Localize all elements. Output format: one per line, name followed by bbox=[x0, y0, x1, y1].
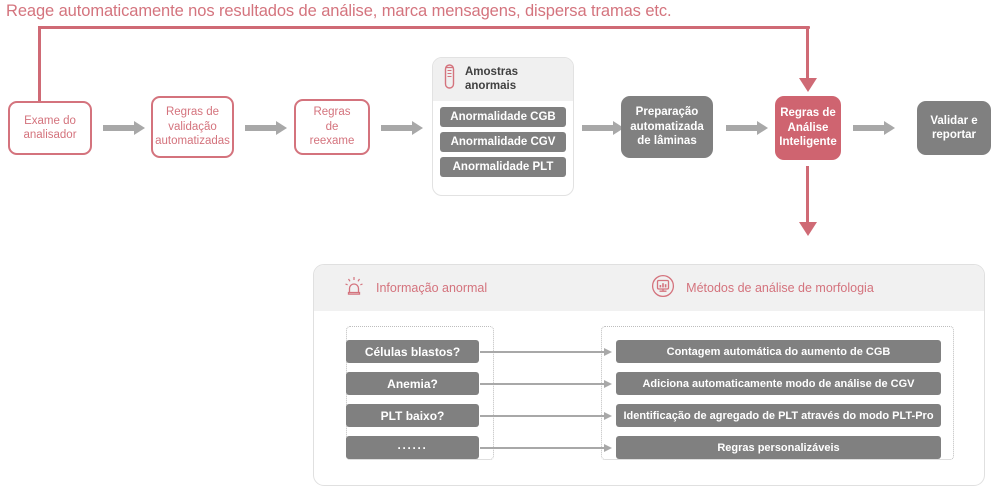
node-line-2: reportar bbox=[925, 128, 982, 143]
node-line-3: Inteligente bbox=[774, 135, 842, 150]
morphology-methods-header: Métodos de análise de morfologia bbox=[651, 274, 874, 303]
connector-arrow-6 bbox=[853, 125, 885, 131]
connector-arrow-1 bbox=[103, 125, 135, 131]
method-box-rbc-mode[interactable]: Adiciona automaticamente modo de análise… bbox=[616, 372, 941, 395]
node-line-3: de lâminas bbox=[625, 134, 709, 149]
sample-chip-plt[interactable]: Anormalidade PLT bbox=[440, 157, 566, 177]
page-title: Reage automaticamente nos resultados de … bbox=[6, 1, 672, 21]
flow-node-intelligent-analysis-rules[interactable]: Regras de Análise Inteligente bbox=[775, 96, 841, 160]
method-box-custom-rules[interactable]: Regras personalizáveis bbox=[616, 436, 941, 459]
drilldown-line bbox=[806, 166, 809, 224]
node-line-2: analisador bbox=[18, 128, 81, 143]
question-box-anemia[interactable]: Anemia? bbox=[346, 372, 479, 395]
method-box-wbc-count[interactable]: Contagem automática do aumento de CGB bbox=[616, 340, 941, 363]
connector-arrow-2 bbox=[245, 125, 277, 131]
method-box-plt-pro[interactable]: Identificação de agregado de PLT através… bbox=[616, 404, 941, 427]
flow-node-auto-validation-rules[interactable]: Regras de validação automatizadas bbox=[151, 96, 234, 158]
mapping-arrow-2 bbox=[480, 383, 604, 385]
abnormal-info-label: Informação anormal bbox=[376, 281, 487, 295]
connector-arrow-5 bbox=[726, 125, 758, 131]
node-line-1: Validar e bbox=[925, 114, 982, 129]
node-line-2: Análise bbox=[774, 121, 842, 136]
abnormal-samples-list: Anormalidade CGB Anormalidade CGV Anorma… bbox=[433, 101, 573, 184]
alarm-siren-icon bbox=[343, 275, 365, 302]
question-box-low-plt[interactable]: PLT baixo? bbox=[346, 404, 479, 427]
node-line-1: Regras de bbox=[150, 105, 235, 120]
connector-arrow-3 bbox=[381, 125, 413, 131]
diagram-canvas: Reage automaticamente nos resultados de … bbox=[0, 0, 996, 495]
mapping-arrow-1 bbox=[480, 351, 604, 353]
detail-panel-header: Informação anormal Métodos de análise de… bbox=[314, 265, 984, 311]
mapping-arrow-4 bbox=[480, 447, 604, 449]
drilldown-arrowhead bbox=[799, 222, 817, 236]
sample-chip-rbc[interactable]: Anormalidade CGV bbox=[440, 132, 566, 152]
morphology-detail-panel: Informação anormal Métodos de análise de… bbox=[313, 264, 985, 486]
feedback-line-horizontal bbox=[38, 26, 810, 29]
node-line-2: validação bbox=[150, 120, 235, 135]
feedback-line-right-drop bbox=[806, 26, 809, 80]
node-line-1: Regras de bbox=[774, 106, 842, 121]
feedback-arrowhead-down bbox=[799, 78, 817, 92]
feedback-line-left-drop bbox=[38, 26, 41, 104]
abnormal-info-header: Informação anormal bbox=[343, 275, 487, 302]
node-line-1: Preparação bbox=[625, 105, 709, 120]
flow-node-analyzer-exam[interactable]: Exame do analisador bbox=[8, 101, 92, 155]
node-line-3: automatizadas bbox=[150, 134, 235, 149]
node-line-2: automatizada bbox=[625, 120, 709, 135]
detail-panel-body: Células blastos? Anemia? PLT baixo? ····… bbox=[314, 311, 984, 486]
node-line-1: Exame do bbox=[18, 114, 81, 129]
flow-node-validate-report[interactable]: Validar e reportar bbox=[917, 101, 991, 155]
test-tube-icon bbox=[443, 64, 456, 95]
morphology-methods-label: Métodos de análise de morfologia bbox=[686, 281, 874, 295]
chart-monitor-icon bbox=[651, 274, 675, 303]
sample-chip-wbc[interactable]: Anormalidade CGB bbox=[440, 107, 566, 127]
abnormal-samples-card: Amostras anormais Anormalidade CGB Anorm… bbox=[432, 57, 574, 196]
mapping-arrow-3 bbox=[480, 415, 604, 417]
question-box-blasts[interactable]: Células blastos? bbox=[346, 340, 479, 363]
node-line-2: reexame bbox=[301, 134, 363, 149]
node-line-1: Regras de bbox=[301, 105, 363, 134]
abnormal-samples-header: Amostras anormais bbox=[433, 58, 573, 101]
connector-arrow-4 bbox=[582, 125, 614, 131]
question-box-more[interactable]: ······ bbox=[346, 436, 479, 459]
flow-node-auto-slide-prep[interactable]: Preparação automatizada de lâminas bbox=[621, 96, 713, 158]
abnormal-samples-title: Amostras anormais bbox=[465, 66, 518, 93]
flow-node-rerun-rules[interactable]: Regras de reexame bbox=[294, 99, 370, 155]
